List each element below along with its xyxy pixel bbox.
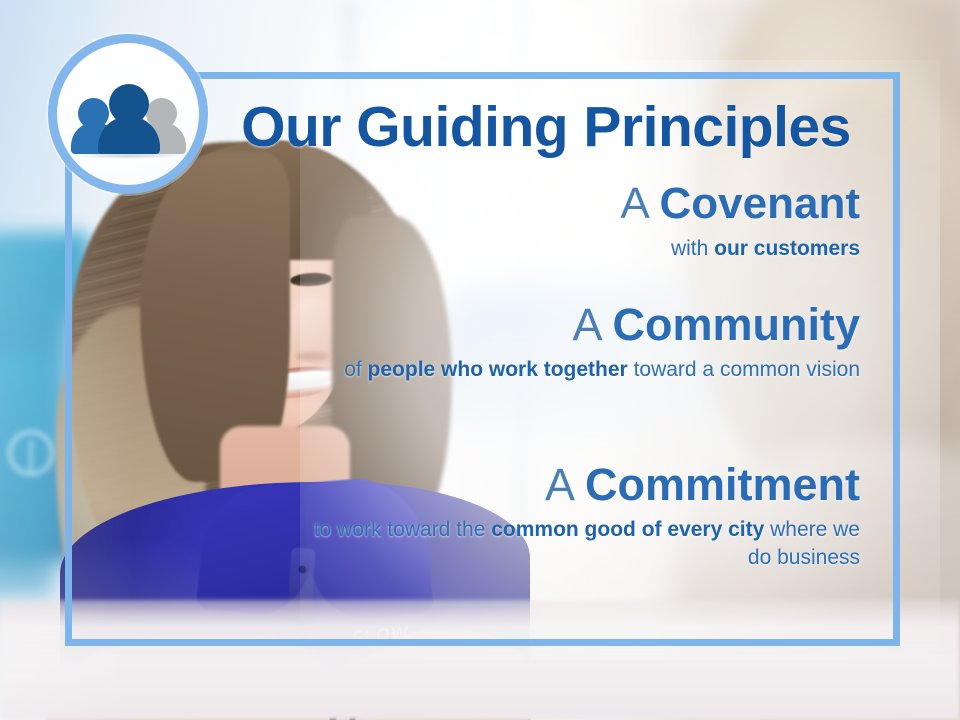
principle-commitment-word: Commitment [585, 459, 860, 510]
principle-community-subtext: of people who work together toward a com… [300, 356, 860, 384]
principle-covenant-heading: A Covenant [300, 182, 860, 226]
guiding-principles-poster: FLOW AUTOMOTIVE FLOW [0, 0, 960, 720]
principle-commitment-article: A [545, 459, 585, 510]
principle-covenant-word: Covenant [660, 179, 860, 228]
principle-community-heading: A Community [300, 302, 860, 347]
principle-covenant-article: A [620, 179, 659, 228]
principle-covenant-subtext: with our customers [300, 235, 860, 263]
principle-community-word: Community [613, 299, 861, 350]
page-title: Our Guiding Principles [216, 94, 876, 160]
principle-community: A Community of people who work together … [300, 302, 860, 384]
principle-commitment-heading: A Commitment [300, 462, 860, 507]
principle-commitment-subtext: to work toward the common good of every … [300, 516, 860, 571]
principle-commitment: A Commitment to work toward the common g… [300, 462, 860, 571]
principle-covenant: A Covenant with our customers [300, 182, 860, 263]
principle-community-article: A [572, 299, 612, 350]
poster-content: Our Guiding Principles A Covenant with o… [0, 0, 960, 720]
